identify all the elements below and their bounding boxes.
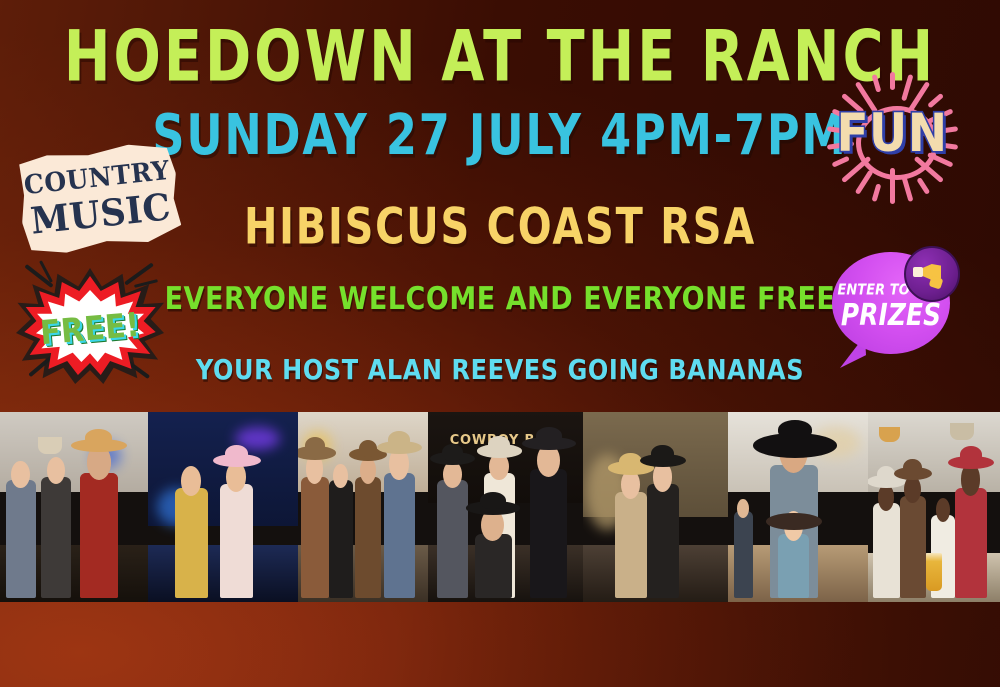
photo-2 [148, 412, 298, 602]
megaphone-handle [929, 275, 944, 289]
megaphone-icon [904, 246, 960, 302]
photo-4: COWBOY BAR [428, 412, 583, 602]
cowboy-hat-crown [903, 459, 921, 476]
person-body [175, 488, 208, 598]
megaphone-body [913, 267, 923, 277]
person-body [900, 496, 926, 599]
person-body [355, 477, 381, 599]
person-body [873, 503, 899, 598]
fun-badge: FUN [812, 84, 972, 192]
photo-5 [583, 412, 728, 602]
photo-strip: COWBOY BAR [0, 412, 1000, 602]
person-body [301, 477, 330, 599]
person-head [333, 464, 348, 488]
person-head [360, 457, 376, 484]
person-body [615, 492, 647, 598]
pendant-lamp [38, 437, 62, 454]
child-hat-brim [766, 513, 822, 530]
person-body [384, 473, 415, 598]
person-body [734, 511, 754, 598]
pendant-lamp [950, 423, 974, 440]
cowboy-hat-crown [442, 444, 464, 461]
person-body [41, 477, 71, 599]
fun-ray-icon [854, 169, 873, 194]
cowboy-hat-crown [305, 437, 325, 454]
beer-glass [926, 553, 942, 591]
cowboy-hat-crown [359, 440, 377, 457]
person-body [955, 488, 987, 598]
cowboy-hat-crown [488, 436, 510, 453]
photo-3 [298, 412, 428, 602]
person-body [475, 534, 512, 599]
pendant-lamp [879, 427, 900, 442]
prizes-line2: PRIZES [837, 298, 946, 333]
cowboy-hat-crown [619, 453, 641, 470]
country-music-badge: COUNTRY MUSIC [15, 138, 183, 258]
cowboy-hat-crown [388, 431, 410, 448]
photo-6 [728, 412, 868, 602]
cowboy-hat-crown [877, 466, 895, 483]
person-head [904, 476, 920, 503]
person-body [220, 484, 253, 598]
person-head [47, 457, 65, 484]
cowboy-hat-crown [480, 492, 506, 509]
prizes-badge: ENTER TO WIN PRIZES [832, 252, 958, 374]
person-head [181, 466, 201, 496]
person-body [530, 469, 567, 598]
photo-7 [868, 412, 1000, 602]
photo-1 [0, 412, 148, 602]
person-body [647, 484, 679, 598]
fun-label: FUN [812, 103, 972, 165]
cowboy-hat-crown [651, 445, 673, 462]
person-body [437, 480, 468, 598]
cowboy-hat-crown [536, 427, 562, 444]
cowboy-hat-crown [225, 445, 248, 462]
person-body [80, 473, 118, 598]
cowboy-hat-crown [960, 446, 982, 463]
cowboy-hat-crown [85, 429, 112, 446]
fun-ray-icon [890, 72, 895, 90]
person-body [778, 534, 809, 599]
person-head [11, 461, 29, 488]
sombrero-crown [778, 420, 812, 439]
event-poster: HOEDOWN AT THE RANCH SUNDAY 27 JULY 4PM-… [0, 0, 1000, 687]
free-badge: FREE! [16, 268, 164, 384]
person-body [6, 480, 36, 598]
person-body [329, 480, 352, 598]
